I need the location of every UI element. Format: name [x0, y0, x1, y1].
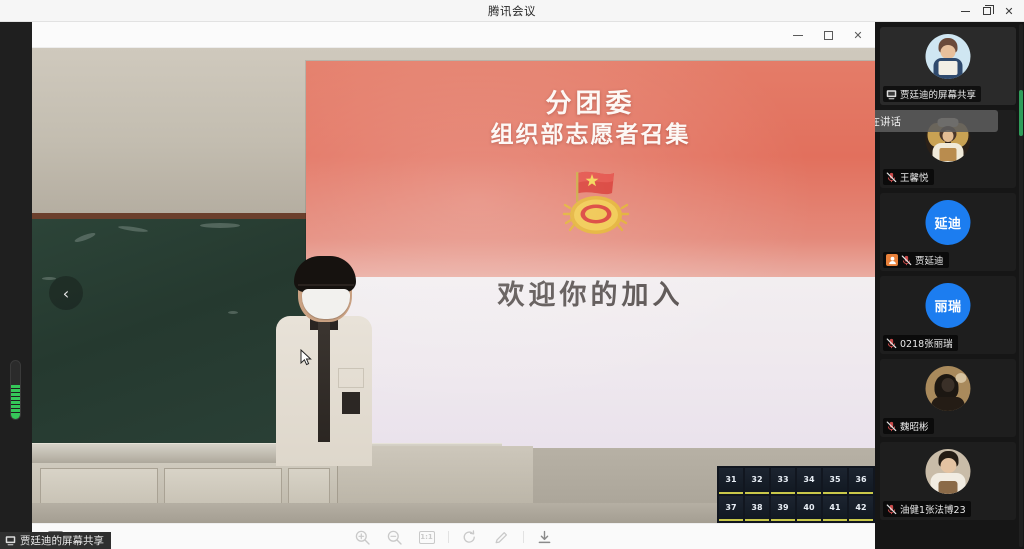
- participant-tile[interactable]: 丽瑞 0218张丽瑞: [880, 276, 1016, 354]
- participant-tile[interactable]: 魏昭彬: [880, 359, 1016, 437]
- screen-share-icon: [886, 89, 897, 100]
- download-icon: [537, 530, 552, 545]
- avatar-face: [942, 378, 955, 392]
- mic-muted-icon: [886, 338, 897, 349]
- mic-level-fill: [11, 385, 20, 419]
- presenter-figure: [276, 260, 372, 465]
- window-controls: ✕: [954, 0, 1020, 22]
- host-badge-icon: [886, 254, 898, 266]
- person-icon: [888, 256, 897, 265]
- locker: 40: [797, 496, 821, 522]
- screen-share-icon: [5, 535, 16, 546]
- minimize-icon: [961, 11, 970, 12]
- mic-muted-icon: [901, 255, 912, 266]
- original-ratio-button[interactable]: 1:1: [416, 527, 438, 547]
- shared-screen-window: ✕ 分团委 组织部志愿者召集: [32, 22, 875, 549]
- presenter-badge: [342, 392, 360, 414]
- window-titlebar: 腾讯会议 ✕: [0, 0, 1024, 22]
- avatar-initials: 丽瑞: [934, 296, 961, 315]
- toolbar-divider: [448, 531, 449, 543]
- participant-label: 魏昭彬: [883, 418, 934, 434]
- previous-button[interactable]: ‹: [49, 276, 83, 310]
- toolbar-divider: [523, 531, 524, 543]
- presenter-placket: [318, 322, 330, 442]
- presenter-pocket: [338, 368, 364, 388]
- participant-name: 王馨悦: [900, 170, 929, 184]
- avatar: 延迪: [926, 200, 971, 245]
- chalk-mark: [74, 231, 96, 243]
- ratio-icon: 1:1: [419, 531, 435, 544]
- participant-label: 油健1张法博23: [883, 501, 971, 517]
- locker: 36: [849, 468, 873, 494]
- avatar-object: [940, 148, 957, 161]
- avatar: [926, 366, 971, 411]
- participant-label: 0218张丽瑞: [883, 335, 958, 351]
- shared-window-close-button[interactable]: ✕: [843, 22, 873, 48]
- avatar: [926, 449, 971, 494]
- annotate-button[interactable]: [491, 527, 513, 547]
- mic-muted-icon: [886, 172, 897, 183]
- locker: 31: [719, 468, 743, 494]
- locker: 34: [797, 468, 821, 494]
- participant-label: 贾廷迪的屏幕共享: [883, 86, 981, 102]
- participant-label: 贾延迪: [883, 252, 949, 268]
- participant-name: 贾廷迪的屏幕共享: [900, 87, 976, 101]
- rotate-button[interactable]: [459, 527, 481, 547]
- avatar-highlight: [956, 373, 967, 383]
- communist-youth-league-emblem-icon: [548, 167, 634, 239]
- avatar-book: [939, 61, 958, 75]
- locker: 35: [823, 468, 847, 494]
- mic-level-meter: [10, 360, 21, 420]
- zoom-out-button[interactable]: [384, 527, 406, 547]
- shared-video-area[interactable]: 分团委 组织部志愿者召集 欢迎你的加入: [32, 48, 875, 523]
- locker: 38: [745, 496, 769, 522]
- close-icon: ✕: [1004, 6, 1013, 17]
- zoom-in-button[interactable]: [352, 527, 374, 547]
- projected-slide: 分团委 组织部志愿者召集 欢迎你的加入: [306, 61, 875, 461]
- zoom-out-icon: [387, 530, 402, 545]
- participant-name: 油健1张法博23: [900, 502, 966, 516]
- share-toolbar: 1:1: [32, 523, 875, 549]
- locker: 33: [771, 468, 795, 494]
- participant-tile[interactable]: 油健1张法博23: [880, 442, 1016, 520]
- locker: 39: [771, 496, 795, 522]
- avatar-object: [939, 481, 958, 494]
- maximize-icon: [824, 31, 833, 40]
- chevron-left-icon: ‹: [63, 284, 69, 303]
- participant-name: 贾延迪: [915, 253, 944, 267]
- left-rail: [0, 22, 32, 549]
- shared-window-titlebar: ✕: [32, 22, 875, 48]
- tencent-meeting-window: 腾讯会议 ✕: [0, 0, 1024, 549]
- participant-tile[interactable]: 贾廷迪的屏幕共享: [880, 27, 1016, 105]
- avatar: [926, 34, 971, 79]
- shared-window-controls: ✕: [783, 22, 873, 48]
- avatar-initials: 延迪: [934, 213, 961, 232]
- mic-level-segment: [11, 409, 20, 413]
- pencil-icon: [494, 530, 509, 545]
- mic-muted-icon: [886, 421, 897, 432]
- mouse-cursor: [300, 349, 312, 367]
- zoom-in-icon: [355, 530, 370, 545]
- blackboard: [32, 213, 310, 448]
- locker: 42: [849, 496, 873, 522]
- participant-name: 0218张丽瑞: [900, 336, 953, 350]
- shared-window-maximize-button[interactable]: [813, 22, 843, 48]
- screen-share-status-bar[interactable]: 贾廷迪的屏幕共享: [0, 532, 111, 549]
- participant-label: 王馨悦: [883, 169, 934, 185]
- chalk-mark: [228, 311, 238, 314]
- mic-muted-icon: [886, 504, 897, 515]
- locker: 32: [745, 468, 769, 494]
- speaking-toast-text: 正在讲话: [875, 114, 901, 129]
- classroom-lockers: 31 32 33 34 35 36 37 38 39 40 41 42: [717, 466, 875, 523]
- restore-icon: [983, 7, 991, 15]
- window-close-button[interactable]: ✕: [998, 0, 1020, 22]
- window-minimize-button[interactable]: [954, 0, 976, 22]
- avatar-body: [932, 397, 965, 411]
- participant-name: 魏昭彬: [900, 419, 929, 433]
- window-title: 腾讯会议: [488, 3, 536, 19]
- participants-panel[interactable]: 贾廷迪的屏幕共享 王馨悦: [875, 22, 1024, 549]
- locker: 37: [719, 496, 743, 522]
- avatar: 丽瑞: [926, 283, 971, 328]
- participant-tile[interactable]: 延迪 贾延迪: [880, 193, 1016, 271]
- screen-share-status-text: 贾廷迪的屏幕共享: [20, 533, 104, 548]
- chalk-mark: [200, 223, 240, 228]
- download-button[interactable]: [534, 527, 556, 547]
- chalk-mark: [118, 225, 148, 233]
- avatar-face: [941, 45, 956, 59]
- close-icon: ✕: [853, 30, 862, 41]
- slide-subtitle: 组织部志愿者召集: [306, 115, 875, 149]
- window-restore-button[interactable]: [976, 0, 998, 22]
- rotate-icon: [462, 530, 477, 545]
- slide-welcome-text: 欢迎你的加入: [306, 273, 875, 312]
- avatar-face: [941, 458, 957, 473]
- locker: 41: [823, 496, 847, 522]
- shared-window-minimize-button[interactable]: [783, 22, 813, 48]
- speaking-toast: 正在讲话: [875, 110, 998, 132]
- participants-scrollbar-thumb[interactable]: [1019, 90, 1023, 136]
- share-toolbar-center: 1:1: [32, 524, 875, 549]
- minimize-icon: [793, 35, 803, 36]
